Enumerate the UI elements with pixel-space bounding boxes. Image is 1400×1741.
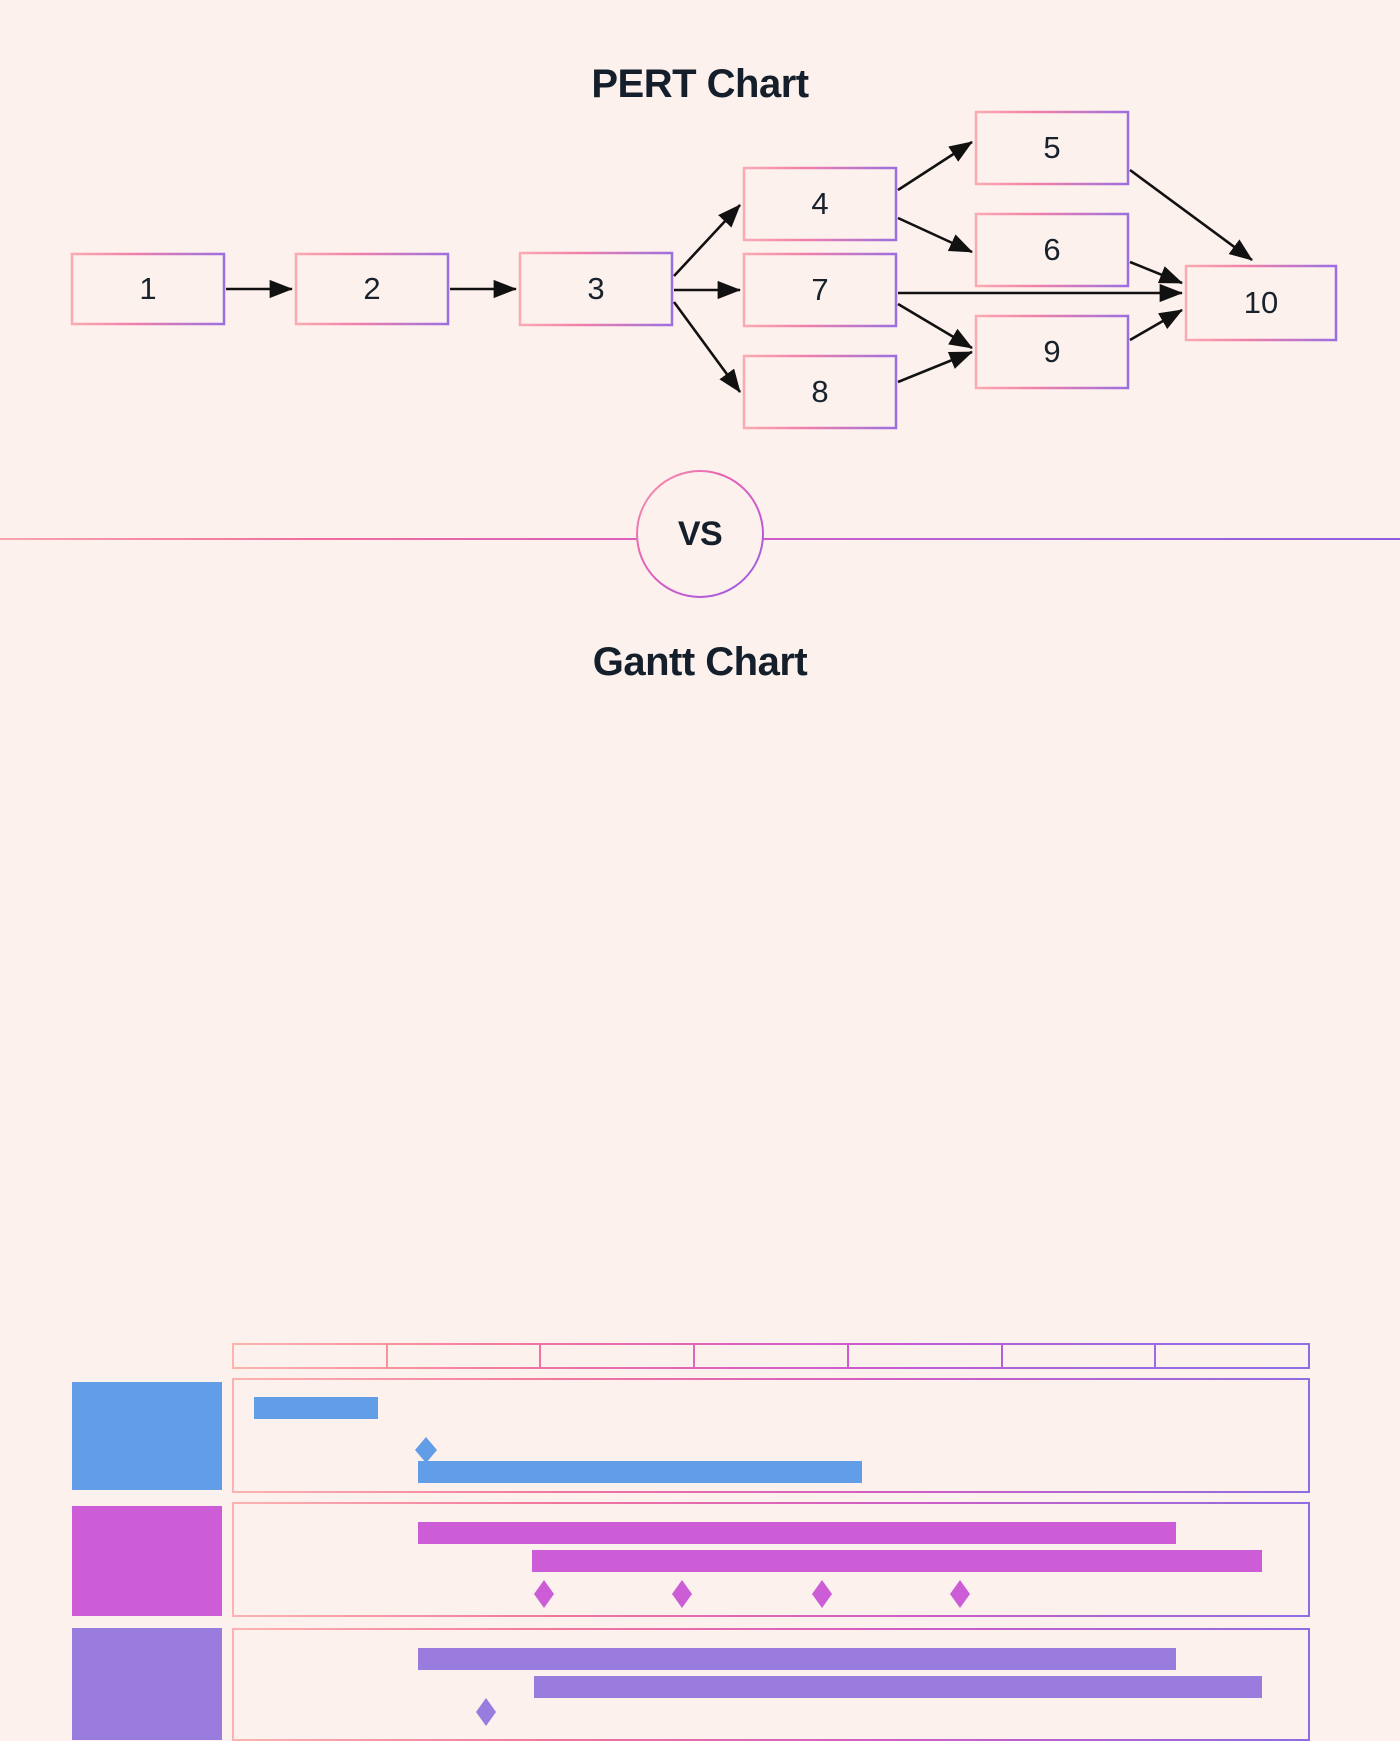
gantt-row-swatch [72, 1506, 222, 1616]
pert-edge-3-4 [674, 205, 740, 276]
gantt-row-swatch [72, 1382, 222, 1490]
pert-edge-7-9 [898, 304, 972, 348]
pert-node-2-label: 2 [363, 271, 380, 306]
pert-node-6-label: 6 [1043, 232, 1060, 267]
pert-chart-section: PERT Chart [0, 0, 1400, 470]
pert-node-5-label: 5 [1043, 130, 1060, 165]
gantt-timeline-cell[interactable] [1001, 1343, 1157, 1369]
gantt-row-swatch [72, 1628, 222, 1740]
pert-edges [226, 142, 1252, 392]
pert-node-3-label: 3 [587, 271, 604, 306]
gantt-timeline-cell[interactable] [1154, 1343, 1310, 1369]
gantt-timeline-header [232, 1343, 1308, 1369]
gantt-timeline-cell[interactable] [386, 1343, 542, 1369]
gantt-task-bar[interactable] [532, 1550, 1262, 1572]
gantt-task-bar[interactable] [418, 1648, 1176, 1670]
gantt-task-bar[interactable] [418, 1522, 1176, 1544]
pert-edge-4-6 [898, 218, 972, 252]
gantt-timeline-cell[interactable] [232, 1343, 388, 1369]
pert-edge-8-9 [898, 352, 972, 382]
pert-edge-9-10 [1130, 310, 1182, 340]
pert-edge-6-10 [1130, 262, 1182, 283]
gantt-timeline-cell[interactable] [539, 1343, 695, 1369]
gantt-plot-area [0, 610, 1400, 1210]
vs-label: VS [678, 515, 722, 554]
pert-node-4-label: 4 [811, 186, 828, 221]
gantt-chart-section: Gantt Chart [0, 610, 1400, 1210]
pert-edge-3-8 [674, 302, 740, 392]
pert-node-10-label: 10 [1244, 285, 1278, 320]
pert-diagram-canvas: 1 2 3 4 5 6 7 8 9 10 [0, 0, 1400, 470]
gantt-task-bar[interactable] [418, 1461, 862, 1483]
pert-node-8-label: 8 [811, 374, 828, 409]
gantt-task-bar[interactable] [534, 1676, 1262, 1698]
pert-node-labels: 1 2 3 4 5 6 7 8 9 10 [139, 130, 1278, 409]
gantt-task-bar[interactable] [254, 1397, 378, 1419]
pert-edge-5-10 [1130, 170, 1252, 260]
pert-node-9-label: 9 [1043, 334, 1060, 369]
gantt-timeline-cell[interactable] [693, 1343, 849, 1369]
vs-divider-section: VS [0, 470, 1400, 610]
pert-edge-4-5 [898, 142, 972, 190]
gantt-timeline-cell[interactable] [847, 1343, 1003, 1369]
vs-badge: VS [636, 470, 764, 598]
pert-node-7-label: 7 [811, 272, 828, 307]
pert-node-1-label: 1 [139, 271, 156, 306]
